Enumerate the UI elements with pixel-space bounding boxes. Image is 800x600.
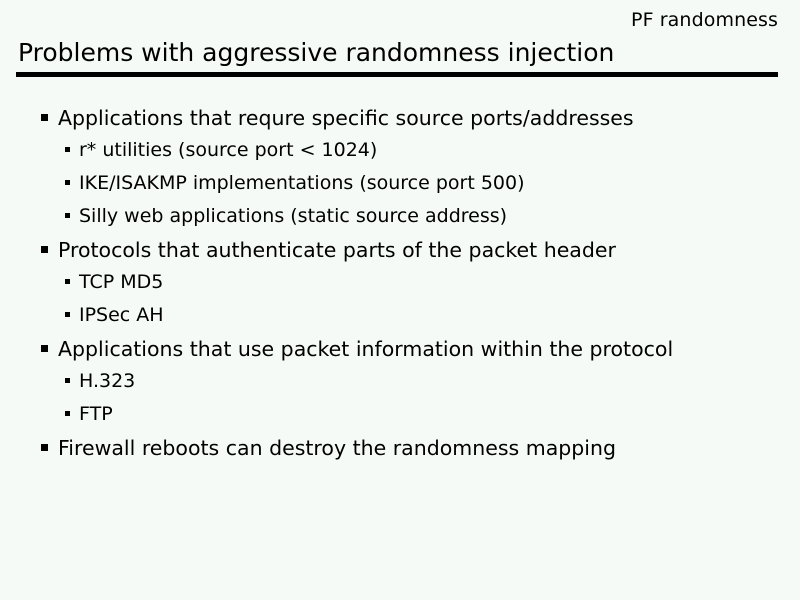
slide-title: Problems with aggressive randomness inje… [18, 38, 614, 67]
presentation-slide: PF randomness Problems with aggressive r… [0, 0, 800, 600]
bullet-item-label: Firewall reboots can destroy the randomn… [58, 438, 616, 459]
bullet-item-label: Applications that requre specific source… [58, 108, 634, 129]
square-bullet-icon [65, 312, 70, 317]
square-bullet-icon [65, 378, 70, 383]
bullet-item-level-1: Applications that requre specific source… [0, 108, 800, 141]
bullet-item-label: H.323 [79, 372, 135, 391]
bullet-item-level-1: Protocols that authenticate parts of the… [0, 240, 800, 273]
square-bullet-icon [41, 114, 48, 121]
square-bullet-icon [41, 444, 48, 451]
bullet-item-level-1: Firewall reboots can destroy the randomn… [0, 438, 800, 471]
bullet-item-level-2: H.323 [0, 372, 800, 405]
bullet-item-label: FTP [79, 405, 113, 424]
bullet-item-label: IKE/ISAKMP implementations (source port … [79, 174, 525, 193]
square-bullet-icon [65, 147, 70, 152]
bullet-item-level-2: r* utilities (source port < 1024) [0, 141, 800, 174]
slide-header-label: PF randomness [631, 9, 778, 31]
bullet-item-level-2: IKE/ISAKMP implementations (source port … [0, 174, 800, 207]
bullet-item-level-2: FTP [0, 405, 800, 438]
bullet-item-label: Silly web applications (static source ad… [79, 207, 507, 226]
square-bullet-icon [41, 345, 48, 352]
bullet-item-level-2: TCP MD5 [0, 273, 800, 306]
bullet-item-label: Applications that use packet information… [58, 339, 673, 360]
bullet-item-label: TCP MD5 [79, 273, 163, 292]
bullet-item-label: IPSec AH [79, 306, 164, 325]
title-divider-rule [16, 72, 778, 77]
bullet-item-label: Protocols that authenticate parts of the… [58, 240, 616, 261]
square-bullet-icon [41, 246, 48, 253]
bullet-list: Applications that requre specific source… [0, 108, 800, 471]
square-bullet-icon [65, 411, 70, 416]
bullet-item-level-1: Applications that use packet information… [0, 339, 800, 372]
square-bullet-icon [65, 180, 70, 185]
bullet-item-level-2: Silly web applications (static source ad… [0, 207, 800, 240]
square-bullet-icon [65, 279, 70, 284]
bullet-item-label: r* utilities (source port < 1024) [79, 141, 377, 160]
bullet-item-level-2: IPSec AH [0, 306, 800, 339]
square-bullet-icon [65, 213, 70, 218]
